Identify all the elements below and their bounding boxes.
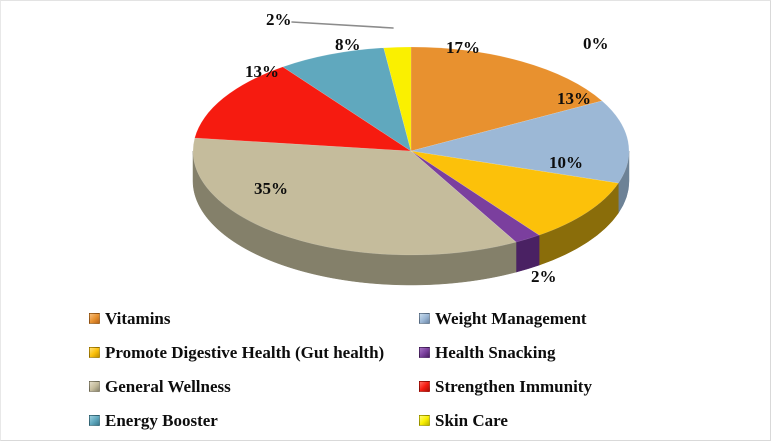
label-13pct-red: 13% [245, 63, 279, 80]
chart-figure: 0%17%13%10%2%35%13%8%2% VitaminsWeight M… [0, 0, 771, 441]
legend-item-promote-digestive-health-gut-health[interactable]: Promote Digestive Health (Gut health) [89, 335, 419, 369]
leader-line-skin-care [292, 22, 393, 28]
legend-label: General Wellness [105, 378, 231, 395]
legend-label: Strengthen Immunity [435, 378, 592, 395]
legend-item-weight-management[interactable]: Weight Management [419, 301, 709, 335]
legend-label: Energy Booster [105, 412, 218, 429]
label-2pct-yellow: 2% [266, 11, 292, 28]
legend-swatch-icon [419, 313, 430, 324]
legend-item-health-snacking[interactable]: Health Snacking [419, 335, 709, 369]
legend-swatch-icon [419, 381, 430, 392]
label-17pct: 17% [446, 39, 480, 56]
label-2pct-purple: 2% [531, 268, 557, 285]
legend-swatch-icon [419, 415, 430, 426]
chart-legend: VitaminsWeight ManagementPromote Digesti… [89, 301, 709, 437]
legend-swatch-icon [419, 347, 430, 358]
legend-label: Weight Management [435, 310, 587, 327]
legend-item-general-wellness[interactable]: General Wellness [89, 369, 419, 403]
legend-label: Promote Digestive Health (Gut health) [105, 344, 384, 361]
legend-swatch-icon [89, 415, 100, 426]
label-8pct: 8% [335, 36, 361, 53]
label-35pct: 35% [254, 180, 288, 197]
pie-chart-svg [1, 1, 771, 296]
legend-item-strengthen-immunity[interactable]: Strengthen Immunity [419, 369, 709, 403]
legend-label: Skin Care [435, 412, 508, 429]
legend-item-energy-booster[interactable]: Energy Booster [89, 403, 419, 437]
label-10pct: 10% [549, 154, 583, 171]
legend-label: Vitamins [105, 310, 171, 327]
legend-label: Health Snacking [435, 344, 555, 361]
legend-swatch-icon [89, 381, 100, 392]
legend-item-skin-care[interactable]: Skin Care [419, 403, 709, 437]
label-13pct-blue: 13% [557, 90, 591, 107]
legend-item-vitamins[interactable]: Vitamins [89, 301, 419, 335]
legend-swatch-icon [89, 347, 100, 358]
pie-chart-canvas: 0%17%13%10%2%35%13%8%2% [1, 1, 771, 296]
label-0pct: 0% [583, 35, 609, 52]
legend-swatch-icon [89, 313, 100, 324]
